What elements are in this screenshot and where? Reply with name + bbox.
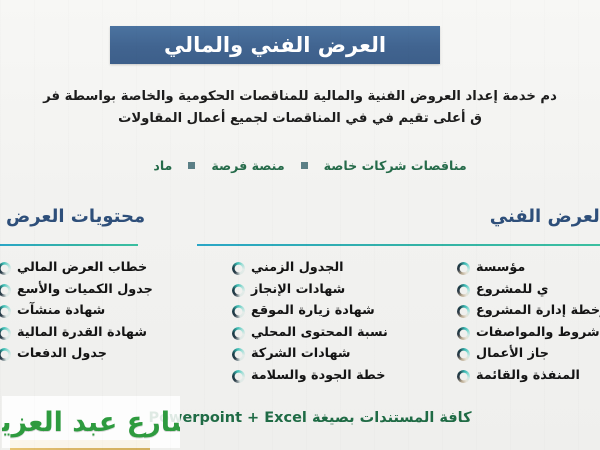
ring-bullet-icon	[457, 262, 470, 275]
chip-etimad-platform: ماد	[153, 158, 172, 173]
watermark-label: شارع عبد العزيز	[2, 407, 180, 438]
slide-canvas: العرض الفني والمالي دم خدمة إعداد العروض…	[0, 0, 600, 450]
square-bullet-icon	[301, 162, 308, 169]
list-item-label: جدول الكميات والأسع	[17, 284, 153, 297]
ring-bullet-icon	[457, 327, 470, 340]
footer-arabic-text: كافة المستندات بصيغة	[312, 410, 472, 426]
list-item-label: خطة الجودة والسلامة	[251, 370, 386, 383]
list-item: خطاب العرض المالي	[0, 258, 170, 280]
list-item-label: المنفذة والقائمة	[476, 370, 580, 383]
watermark: شارع عبد العزيز	[2, 396, 180, 448]
list-item-label: خطاب العرض المالي	[17, 262, 147, 275]
intro-line-2: ق أعلى تقيم في في المناقصات لجميع أعمال …	[0, 108, 600, 130]
list-item: شهادات الشركة	[232, 344, 432, 366]
list-item-label: الجدول الزمني	[251, 262, 344, 275]
chip-forsa-platform: منصة فرصة	[211, 158, 284, 173]
list-item-label: مؤسسة	[476, 262, 525, 275]
list-item-label: شهادات الشركة	[251, 348, 350, 361]
title-banner: العرض الفني والمالي	[110, 26, 440, 64]
list-item: المنفذة والقائمة	[457, 366, 600, 388]
ring-bullet-icon	[232, 284, 245, 297]
list-item-label: شهادات الإنجاز	[251, 284, 345, 297]
ring-bullet-icon	[232, 348, 245, 361]
ring-bullet-icon	[0, 327, 11, 340]
list-item: جدول الكميات والأسع	[0, 280, 170, 302]
platform-chips: مناقصات شركات خاصة منصة فرصة ماد	[0, 158, 600, 173]
ring-bullet-icon	[0, 305, 11, 318]
list-item-label: ي للمشروع	[476, 284, 548, 297]
page-title: العرض الفني والمالي	[164, 33, 386, 57]
chip-private-tenders: مناقصات شركات خاصة	[324, 158, 467, 173]
list-item: شهادة منشآت	[0, 301, 170, 323]
list-item: مؤسسة	[457, 258, 600, 280]
list-item: خطة الجودة والسلامة	[232, 366, 432, 388]
list-technical-offer: مؤسسة ي للمشروع وخطة إدارة المشروع شروط …	[457, 258, 600, 387]
list-item-label: جاز الأعمال	[476, 348, 549, 361]
list-item: جاز الأعمال	[457, 344, 600, 366]
intro-line-1: دم خدمة إعداد العروض الفنية والمالية للم…	[43, 89, 557, 104]
list-item: جدول الدفعات	[0, 344, 170, 366]
ring-bullet-icon	[457, 284, 470, 297]
list-item: الجدول الزمني	[232, 258, 432, 280]
list-item-label: شروط والمواصفات	[476, 327, 600, 340]
list-item: شهادة القدرة المالية	[0, 323, 170, 345]
list-item: شهادات الإنجاز	[232, 280, 432, 302]
list-item-label: شهادة زيارة الموقع	[251, 305, 375, 318]
list-item: وخطة إدارة المشروع	[457, 301, 600, 323]
ring-bullet-icon	[457, 348, 470, 361]
ring-bullet-icon	[0, 262, 11, 275]
list-item-label: شهادة القدرة المالية	[17, 327, 147, 340]
heading-technical-offer: العرض الفني	[490, 206, 600, 227]
ring-bullet-icon	[457, 370, 470, 383]
list-item: نسبة المحتوى المحلي	[232, 323, 432, 345]
list-technical-details: الجدول الزمني شهادات الإنجاز شهادة زيارة…	[232, 258, 432, 387]
intro-paragraph: دم خدمة إعداد العروض الفنية والمالية للم…	[0, 86, 600, 130]
ring-bullet-icon	[232, 370, 245, 383]
ring-bullet-icon	[0, 348, 11, 361]
ring-bullet-icon	[232, 262, 245, 275]
heading-offer-contents: محتويات العرض	[6, 206, 145, 227]
list-item-label: شهادة منشآت	[17, 305, 105, 318]
ring-bullet-icon	[0, 284, 11, 297]
list-item-label: وخطة إدارة المشروع	[476, 305, 600, 318]
list-item: شهادة زيارة الموقع	[232, 301, 432, 323]
ring-bullet-icon	[232, 327, 245, 340]
list-item-label: نسبة المحتوى المحلي	[251, 327, 388, 340]
list-offer-contents: خطاب العرض المالي جدول الكميات والأسع شه…	[0, 258, 170, 366]
list-item-label: جدول الدفعات	[17, 348, 107, 361]
ring-bullet-icon	[457, 305, 470, 318]
ring-bullet-icon	[232, 305, 245, 318]
square-bullet-icon	[188, 162, 195, 169]
list-item: ي للمشروع	[457, 280, 600, 302]
divider-left	[0, 244, 138, 246]
divider-right	[197, 244, 600, 246]
list-item: شروط والمواصفات	[457, 323, 600, 345]
